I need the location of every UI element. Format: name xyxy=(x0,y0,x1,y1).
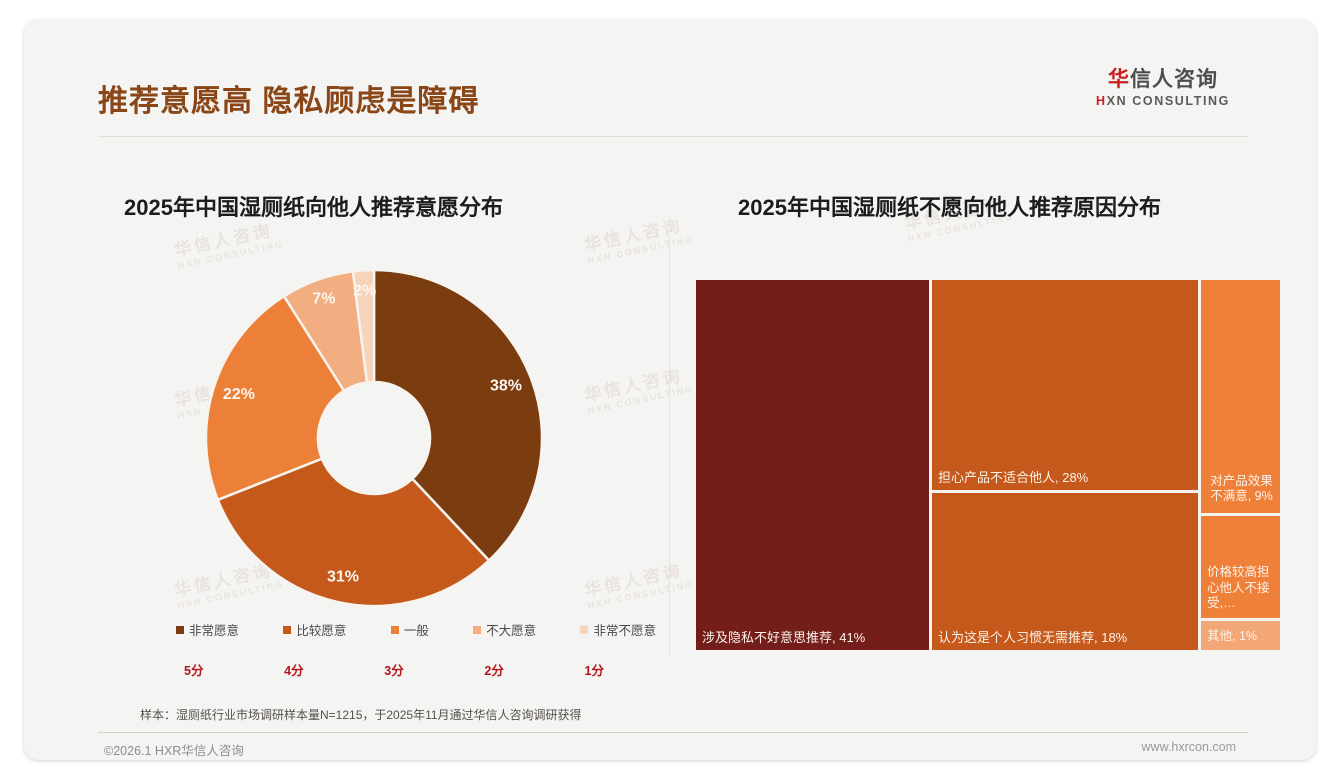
score-label: 2分 xyxy=(484,660,503,679)
watermark-line2: HXN CONSULTING xyxy=(177,239,285,271)
legend-label: 比较愿意 xyxy=(296,620,346,639)
logo-english-red: H xyxy=(1096,94,1107,108)
donut-slice-label: 31% xyxy=(327,569,359,586)
score-label: 5分 xyxy=(184,660,203,679)
donut-chart: 38%31%22%7%2% xyxy=(204,268,544,608)
score-label: 1分 xyxy=(585,660,604,679)
legend-item[interactable]: 一般 xyxy=(391,620,429,639)
treemap-tile-label: 其他, 1% xyxy=(1207,629,1276,645)
logo-english: HXN CONSULTING xyxy=(1078,94,1248,108)
treemap-tile-label: 价格较高担心他人不接受,… xyxy=(1207,565,1276,612)
legend-item[interactable]: 非常愿意 xyxy=(176,620,239,639)
header-divider xyxy=(98,136,1248,137)
score-label: 4分 xyxy=(284,660,303,679)
donut-chart-svg: 38%31%22%7%2% xyxy=(204,268,544,608)
slide-card: 推荐意愿高 隐私顾虑是障碍 华信人咨询 HXN CONSULTING 华信人咨询… xyxy=(24,20,1316,760)
score-label: 3分 xyxy=(384,660,403,679)
legend-swatch-icon xyxy=(176,626,184,634)
treemap-tile-label: 涉及隐私不好意思推荐, 41% xyxy=(702,630,925,646)
brand-logo: 华信人咨询 HXN CONSULTING xyxy=(1078,68,1248,108)
watermark: 华信人咨询 HXN CONSULTING xyxy=(172,214,285,271)
watermark-line2: HXN CONSULTING xyxy=(587,234,695,266)
logo-chinese: 华信人咨询 xyxy=(1078,68,1248,91)
treemap-tile[interactable]: 担心产品不适合他人, 28% xyxy=(931,279,1199,491)
right-chart-title: 2025年中国湿厕纸不愿向他人推荐原因分布 xyxy=(738,190,1161,222)
watermark: 华信人咨询 HXN CONSULTING xyxy=(582,359,695,416)
legend-label: 不大愿意 xyxy=(486,620,536,639)
footer-copyright: ©2026.1 HXR华信人咨询 xyxy=(104,740,244,759)
treemap-chart: 涉及隐私不好意思推荐, 41%担心产品不适合他人, 28%认为这是个人习惯无需推… xyxy=(695,279,1281,651)
watermark-line1: 华信人咨询 xyxy=(582,554,693,601)
donut-slice-label: 38% xyxy=(490,378,522,395)
legend-label: 非常愿意 xyxy=(189,620,239,639)
logo-chinese-red: 华 xyxy=(1108,68,1130,91)
footer-divider xyxy=(98,732,1248,733)
legend-swatch-icon xyxy=(391,626,399,634)
slide-header: 推荐意愿高 隐私顾虑是障碍 华信人咨询 HXN CONSULTING xyxy=(24,20,1316,118)
watermark-line1: 华信人咨询 xyxy=(582,209,693,256)
logo-chinese-rest: 信人咨询 xyxy=(1130,68,1218,91)
treemap-tile-label: 认为这是个人习惯无需推荐, 18% xyxy=(938,630,1194,646)
donut-slice-label: 2% xyxy=(353,282,376,299)
donut-legend: 非常愿意比较愿意一般不大愿意非常不愿意 xyxy=(176,620,656,639)
treemap-tile-label: 担心产品不适合他人, 28% xyxy=(938,470,1194,486)
left-chart-title: 2025年中国湿厕纸向他人推荐意愿分布 xyxy=(124,190,503,222)
legend-item[interactable]: 比较愿意 xyxy=(283,620,346,639)
page-title: 推荐意愿高 隐私顾虑是障碍 xyxy=(98,76,479,120)
watermark-line1: 华信人咨询 xyxy=(582,359,693,406)
treemap-tile[interactable]: 价格较高担心他人不接受,… xyxy=(1200,515,1281,619)
donut-slice-label: 22% xyxy=(223,386,255,403)
source-note: 样本：湿厕纸行业市场调研样本量N=1215，于2025年11月通过华信人咨询调研… xyxy=(140,706,582,723)
legend-swatch-icon xyxy=(580,626,588,634)
treemap-tile-label: 对产品效果不满意, 9% xyxy=(1207,474,1276,505)
legend-swatch-icon xyxy=(473,626,481,634)
score-row: 5分4分3分2分1分 xyxy=(184,660,604,679)
treemap-tile[interactable]: 其他, 1% xyxy=(1200,620,1281,651)
watermark-line2: HXN CONSULTING xyxy=(587,384,695,416)
watermark: 华信人咨询 HXN CONSULTING xyxy=(582,209,695,266)
legend-swatch-icon xyxy=(283,626,291,634)
treemap-tile[interactable]: 涉及隐私不好意思推荐, 41% xyxy=(695,279,930,651)
treemap-tile[interactable]: 对产品效果不满意, 9% xyxy=(1200,279,1281,514)
legend-item[interactable]: 不大愿意 xyxy=(473,620,536,639)
watermark: 华信人咨询 HXN CONSULTING xyxy=(582,554,695,611)
donut-slice-label: 7% xyxy=(312,291,335,308)
treemap-tile[interactable]: 认为这是个人习惯无需推荐, 18% xyxy=(931,492,1199,651)
legend-item[interactable]: 非常不愿意 xyxy=(580,620,656,639)
slide-root: 推荐意愿高 隐私顾虑是障碍 华信人咨询 HXN CONSULTING 华信人咨询… xyxy=(0,0,1340,780)
footer-website: www.hxrcon.com xyxy=(1142,740,1236,754)
legend-label: 一般 xyxy=(404,620,429,639)
logo-english-rest: XN CONSULTING xyxy=(1107,94,1230,108)
legend-label: 非常不愿意 xyxy=(593,620,656,639)
watermark-line2: HXN CONSULTING xyxy=(587,579,695,611)
panel-divider xyxy=(669,235,670,655)
